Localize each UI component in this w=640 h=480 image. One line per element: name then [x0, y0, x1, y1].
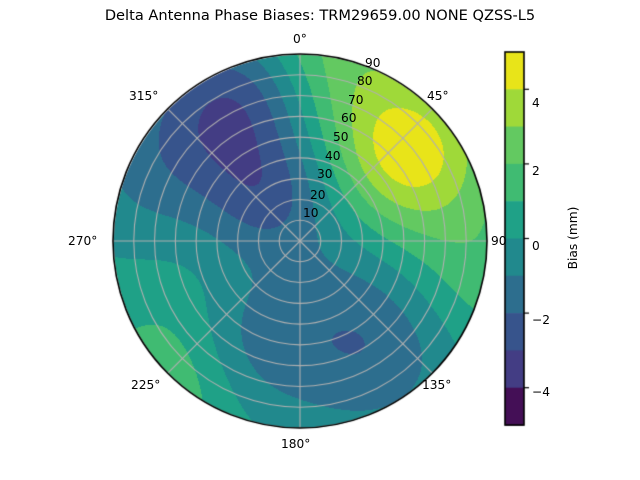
polar-contour-plot[interactable] — [0, 0, 640, 480]
figure-canvas-area: Delta Antenna Phase Biases: TRM29659.00 … — [0, 0, 640, 480]
